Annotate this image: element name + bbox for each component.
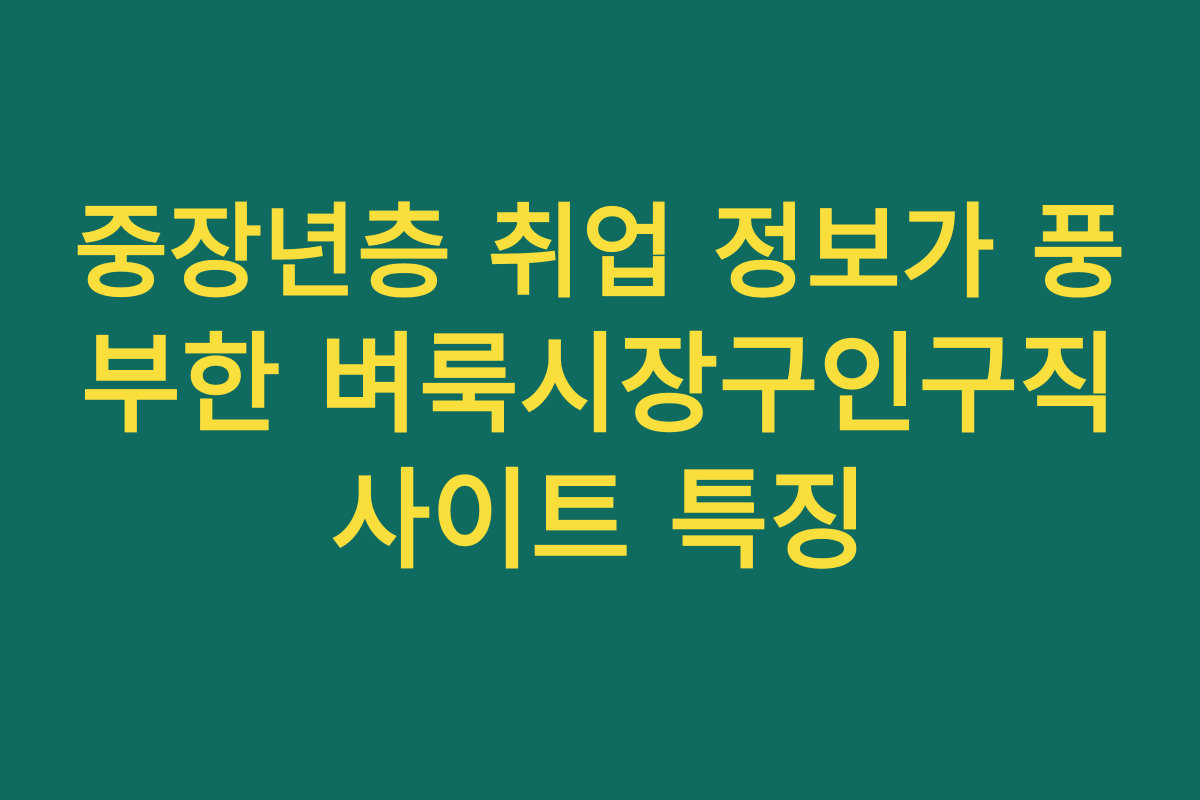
headline-block: 중장년층 취업 정보가 풍 부한 벼룩시장구인구직 사이트 특징 — [70, 190, 1130, 591]
headline-line-2: 부한 벼룩시장구인구직 — [70, 318, 1130, 454]
headline-line-1: 중장년층 취업 정보가 풍 — [70, 190, 1130, 319]
thumbnail-card: 중장년층 취업 정보가 풍 부한 벼룩시장구인구직 사이트 특징 — [0, 0, 1200, 800]
headline-line-3: 사이트 특징 — [70, 454, 1130, 590]
